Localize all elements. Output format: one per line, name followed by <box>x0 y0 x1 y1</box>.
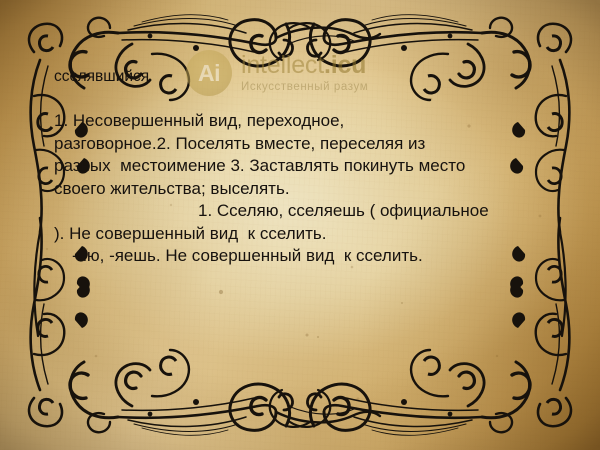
definition-line: разговорное.2. Поселять вместе, переселя… <box>54 133 548 156</box>
watermark-site-base: intellect <box>241 51 324 79</box>
page-title: сселявшийся <box>54 68 149 86</box>
definition-line: ). Не совершенный вид к сселить. <box>54 223 548 246</box>
watermark-tagline: Искусственный разум <box>241 82 368 94</box>
watermark-site-tld: .icu <box>324 51 366 79</box>
definition-line: своего жительства; выселять. <box>54 178 548 201</box>
watermark: Ai intellect.icu Искусственный разум <box>186 50 368 96</box>
watermark-logo-text: Ai <box>198 62 220 85</box>
watermark-wordmark: intellect.icu Искусственный разум <box>241 53 368 94</box>
parchment-slide: Ai intellect.icu Искусственный разум ссе… <box>0 0 600 450</box>
definition-line: 1. Несовершенный вид, переходное, <box>54 110 548 133</box>
watermark-site-name: intellect.icu <box>241 53 368 78</box>
definition-line: -яю, -яешь. Не совершенный вид к сселить… <box>54 245 548 268</box>
watermark-logo-badge: Ai <box>186 50 232 96</box>
definition-line: разных местоимение 3. Заставлять покинут… <box>54 155 548 178</box>
definition-block: 1. Несовершенный вид, переходное, разгов… <box>54 110 548 268</box>
definition-line: 1. Сселяю, сселяешь ( официальное <box>54 200 548 223</box>
